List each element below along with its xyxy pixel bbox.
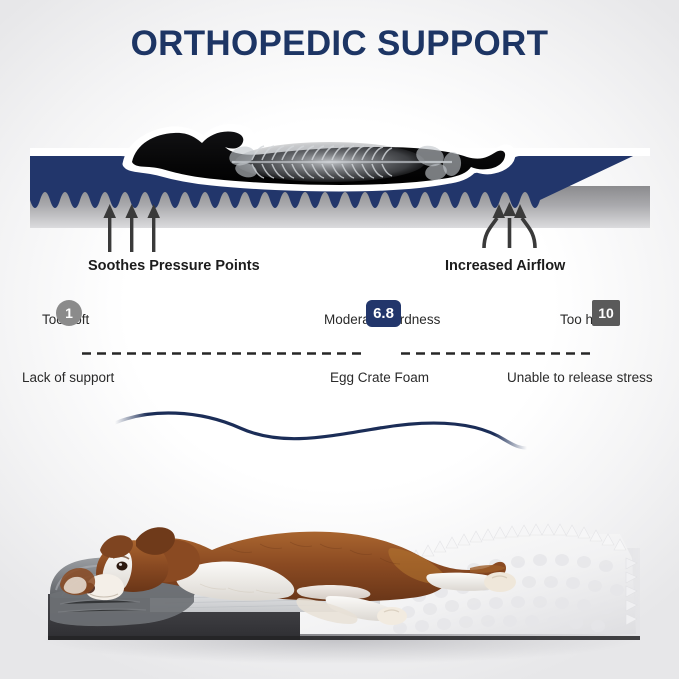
scale-marker-current[interactable]: 6.8 <box>366 300 401 327</box>
scale-current-bottom-label: Egg Crate Foam <box>330 370 429 385</box>
scale-marker-max[interactable]: 10 <box>592 300 620 326</box>
scale-max-bottom-label: Unable to release stress <box>507 370 653 385</box>
firmness-scale: Too soft Moderate hardness Too hard 1 6.… <box>0 300 679 400</box>
scale-min-bottom-label: Lack of support <box>22 370 114 385</box>
navy-wave-accent-line <box>115 413 527 448</box>
increased-airflow-label: Increased Airflow <box>445 258 565 274</box>
dog-eye <box>117 562 128 571</box>
airflow-arrows-group <box>484 218 535 248</box>
infographic-page: ORTHOPEDIC SUPPORT <box>0 0 679 679</box>
scale-track <box>0 340 679 372</box>
soothes-pressure-points-label: Soothes Pressure Points <box>88 258 260 274</box>
page-title: ORTHOPEDIC SUPPORT <box>0 24 679 64</box>
product-lifestyle-photo <box>0 398 679 679</box>
scale-marker-min[interactable]: 1 <box>56 300 82 326</box>
dog-paw <box>484 572 516 592</box>
